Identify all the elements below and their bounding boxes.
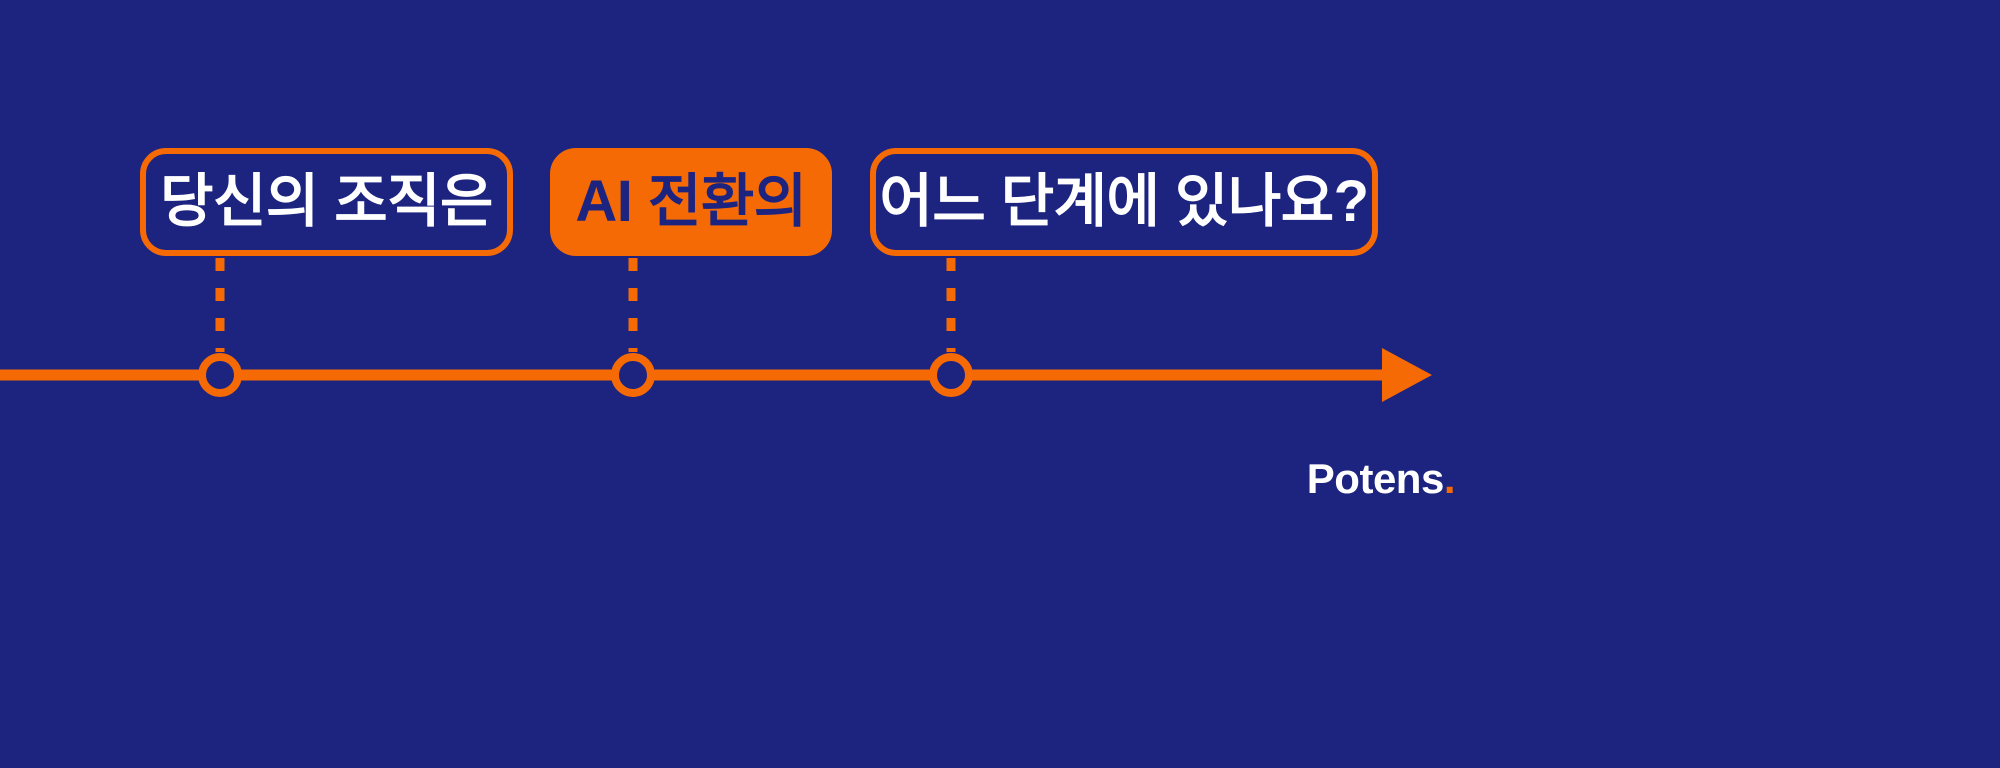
headline-segment-3-label: 어느 단계에 있나요? xyxy=(879,173,1368,231)
headline-segment-2-label: AI 전환의 xyxy=(575,173,806,231)
brand-dot-icon: . xyxy=(1444,455,1455,503)
headline-segment-1-label: 당신의 조직은 xyxy=(160,173,493,231)
connector-group xyxy=(220,258,951,352)
timeline-marker-1[interactable] xyxy=(202,357,238,393)
headline-segment-3[interactable]: 어느 단계에 있나요? xyxy=(870,148,1378,256)
marker-group xyxy=(202,357,969,393)
timeline-arrow-icon xyxy=(1382,348,1432,402)
slide-canvas: 당신의 조직은 AI 전환의 어느 단계에 있나요? Potens . xyxy=(0,0,2000,768)
timeline-graphic xyxy=(0,0,2000,768)
timeline-marker-2[interactable] xyxy=(615,357,651,393)
brand-logo: Potens . xyxy=(1307,455,1455,503)
brand-name: Potens xyxy=(1307,455,1444,503)
headline-segment-1[interactable]: 당신의 조직은 xyxy=(140,148,513,256)
timeline-marker-3[interactable] xyxy=(933,357,969,393)
headline-segment-2-highlighted[interactable]: AI 전환의 xyxy=(550,148,832,256)
